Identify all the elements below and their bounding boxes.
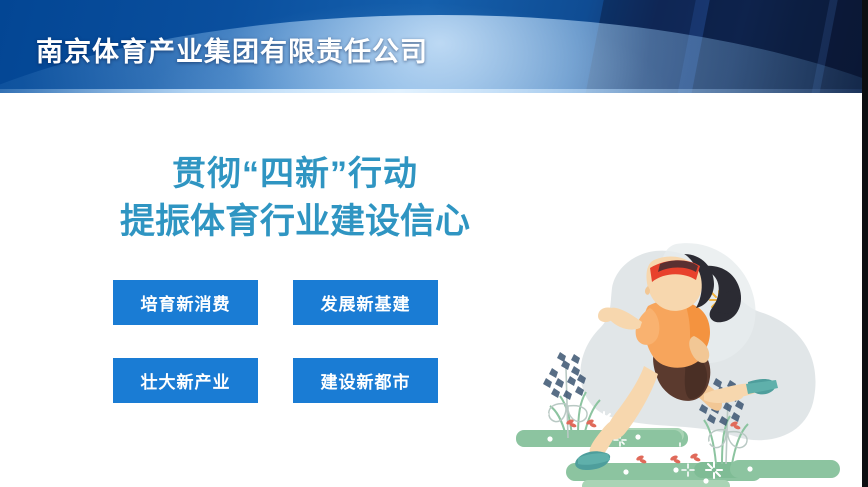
action-button-new-city[interactable]: 建设新都市 — [293, 358, 438, 403]
headline-line-2: 提振体育行业建设信心 — [70, 198, 520, 245]
header-bar: 南京体育产业集团有限责任公司 — [0, 0, 868, 93]
content-area: 贯彻“四新”行动 提振体育行业建设信心 培育新消费 发展新基建 壮大新产业 建设… — [0, 93, 868, 487]
action-button-new-infrastructure[interactable]: 发展新基建 — [293, 280, 438, 325]
right-edge-band — [862, 0, 868, 487]
ground-strips — [516, 428, 840, 487]
headline-line-1: 贯彻“四新”行动 — [70, 151, 520, 198]
action-button-new-industry[interactable]: 壮大新产业 — [113, 358, 258, 403]
running-woman-illustration — [508, 208, 858, 487]
action-button-grid: 培育新消费 发展新基建 壮大新产业 建设新都市 — [113, 280, 438, 403]
action-button-new-consumption[interactable]: 培育新消费 — [113, 280, 258, 325]
slide-canvas: 南京体育产业集团有限责任公司 贯彻“四新”行动 提振体育行业建设信心 培育新消费… — [0, 0, 868, 487]
company-name-title: 南京体育产业集团有限责任公司 — [36, 30, 428, 69]
headline-block: 贯彻“四新”行动 提振体育行业建设信心 — [70, 151, 520, 245]
